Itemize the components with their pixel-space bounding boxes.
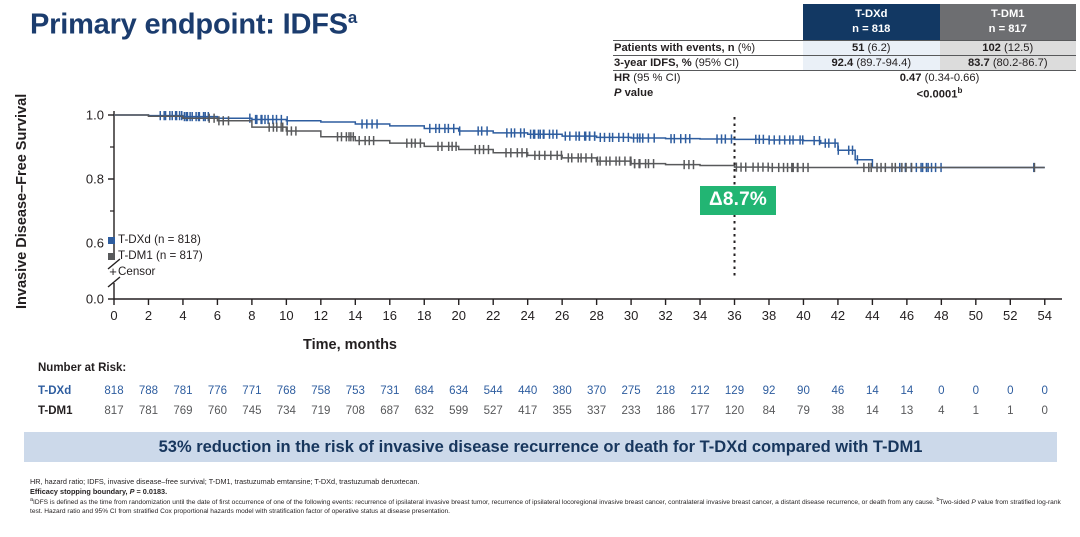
x-tick-label-14: 14 xyxy=(348,308,362,323)
risk-value-tdxd-32: 218 xyxy=(653,385,679,397)
y-tick-label-1.0: 1.0 xyxy=(86,108,104,123)
x-tick-label-12: 12 xyxy=(314,308,328,323)
x-tick-label-4: 4 xyxy=(179,308,186,323)
legend-item-censor: +Censor xyxy=(108,264,203,280)
risk-value-tdm1-38: 84 xyxy=(756,405,782,417)
x-tick-label-22: 22 xyxy=(486,308,500,323)
y-tick-label-0.0: 0.0 xyxy=(86,292,104,307)
risk-row-label-tdm1: T-DM1 xyxy=(38,405,73,417)
risk-value-tdxd-18: 684 xyxy=(411,385,437,397)
km-curve-tdm1 xyxy=(114,115,1045,167)
kaplan-meier-plot: 0.00.60.81.00246810121416182022242628303… xyxy=(0,0,1080,360)
delta-badge: Δ8.7% xyxy=(700,186,776,215)
legend-label-censor: Censor xyxy=(118,264,155,280)
x-tick-label-8: 8 xyxy=(248,308,255,323)
legend-item-tdxd: T-DXd (n = 818) xyxy=(108,232,203,248)
footnote-efficacy-label: Efficacy stopping boundary, xyxy=(30,487,130,496)
x-tick-label-2: 2 xyxy=(145,308,152,323)
conclusion-banner-text: 53% reduction in the risk of invasive di… xyxy=(159,438,923,457)
risk-value-tdxd-52: 0 xyxy=(997,385,1023,397)
risk-value-tdxd-14: 753 xyxy=(342,385,368,397)
x-tick-label-36: 36 xyxy=(727,308,741,323)
risk-value-tdm1-30: 233 xyxy=(618,405,644,417)
x-tick-label-44: 44 xyxy=(865,308,879,323)
risk-value-tdxd-26: 380 xyxy=(549,385,575,397)
x-tick-label-24: 24 xyxy=(520,308,534,323)
risk-value-tdm1-24: 417 xyxy=(515,405,541,417)
risk-value-tdm1-46: 13 xyxy=(894,405,920,417)
slide-root: Primary endpoint: IDFSa T-DXd n = 818 T-… xyxy=(0,0,1080,537)
x-tick-label-26: 26 xyxy=(555,308,569,323)
risk-value-tdxd-12: 758 xyxy=(308,385,334,397)
risk-value-tdm1-54: 0 xyxy=(1032,405,1058,417)
risk-value-tdxd-2: 788 xyxy=(135,385,161,397)
risk-value-tdxd-24: 440 xyxy=(515,385,541,397)
risk-value-tdm1-28: 337 xyxy=(584,405,610,417)
risk-value-tdm1-50: 1 xyxy=(963,405,989,417)
risk-value-tdxd-0: 818 xyxy=(101,385,127,397)
risk-value-tdm1-20: 599 xyxy=(446,405,472,417)
risk-value-tdm1-44: 14 xyxy=(859,405,885,417)
footnote-efficacy: Efficacy stopping boundary, P = 0.0183. xyxy=(30,487,1065,497)
legend-swatch-tdm1 xyxy=(108,253,115,260)
risk-value-tdm1-32: 186 xyxy=(653,405,679,417)
chart-legend: T-DXd (n = 818) T-DM1 (n = 817) +Censor xyxy=(108,232,203,280)
x-tick-label-54: 54 xyxy=(1038,308,1052,323)
risk-value-tdxd-28: 370 xyxy=(584,385,610,397)
x-tick-label-52: 52 xyxy=(1003,308,1017,323)
risk-value-tdm1-8: 745 xyxy=(239,405,265,417)
footnote-definitions: aIDFS is defined as the time from random… xyxy=(30,496,1065,516)
x-tick-label-42: 42 xyxy=(831,308,845,323)
risk-value-tdxd-42: 46 xyxy=(825,385,851,397)
footnote-efficacy-value: = 0.0183. xyxy=(134,487,167,496)
y-tick-label-0.8: 0.8 xyxy=(86,172,104,187)
x-tick-label-32: 32 xyxy=(658,308,672,323)
risk-value-tdxd-44: 14 xyxy=(859,385,885,397)
legend-swatch-tdxd xyxy=(108,237,115,244)
risk-value-tdm1-2: 781 xyxy=(135,405,161,417)
risk-value-tdm1-0: 817 xyxy=(101,405,127,417)
footnote-text-a: IDFS is defined as the time from randomi… xyxy=(33,499,936,506)
risk-value-tdxd-46: 14 xyxy=(894,385,920,397)
risk-value-tdm1-48: 4 xyxy=(928,405,954,417)
x-tick-label-20: 20 xyxy=(451,308,465,323)
x-tick-label-10: 10 xyxy=(279,308,293,323)
risk-value-tdm1-6: 760 xyxy=(204,405,230,417)
risk-value-tdxd-34: 212 xyxy=(687,385,713,397)
risk-row-label-tdxd: T-DXd xyxy=(38,385,71,397)
x-tick-label-40: 40 xyxy=(796,308,810,323)
risk-value-tdm1-4: 769 xyxy=(170,405,196,417)
risk-value-tdxd-10: 768 xyxy=(273,385,299,397)
x-tick-label-48: 48 xyxy=(934,308,948,323)
risk-value-tdm1-52: 1 xyxy=(997,405,1023,417)
conclusion-banner: 53% reduction in the risk of invasive di… xyxy=(24,432,1057,462)
x-tick-label-0: 0 xyxy=(110,308,117,323)
risk-value-tdxd-48: 0 xyxy=(928,385,954,397)
legend-item-tdm1: T-DM1 (n = 817) xyxy=(108,248,203,264)
risk-value-tdxd-4: 781 xyxy=(170,385,196,397)
risk-value-tdm1-22: 527 xyxy=(480,405,506,417)
x-tick-label-6: 6 xyxy=(214,308,221,323)
risk-value-tdm1-40: 79 xyxy=(790,405,816,417)
risk-value-tdxd-54: 0 xyxy=(1032,385,1058,397)
legend-label-tdm1: T-DM1 (n = 817) xyxy=(118,248,203,264)
number-at-risk-title: Number at Risk: xyxy=(38,362,126,374)
risk-value-tdm1-42: 38 xyxy=(825,405,851,417)
risk-value-tdxd-20: 634 xyxy=(446,385,472,397)
risk-value-tdxd-22: 544 xyxy=(480,385,506,397)
risk-value-tdm1-10: 734 xyxy=(273,405,299,417)
y-tick-label-0.6: 0.6 xyxy=(86,236,104,251)
risk-value-tdm1-26: 355 xyxy=(549,405,575,417)
risk-value-tdxd-30: 275 xyxy=(618,385,644,397)
risk-value-tdm1-14: 708 xyxy=(342,405,368,417)
x-tick-label-34: 34 xyxy=(693,308,707,323)
km-curve-tdxd xyxy=(114,115,1045,167)
risk-value-tdxd-38: 92 xyxy=(756,385,782,397)
risk-value-tdxd-50: 0 xyxy=(963,385,989,397)
risk-value-tdxd-40: 90 xyxy=(790,385,816,397)
footnote-abbreviations: HR, hazard ratio; IDFS, invasive disease… xyxy=(30,477,1065,487)
footnotes: HR, hazard ratio; IDFS, invasive disease… xyxy=(30,477,1065,517)
risk-value-tdm1-36: 120 xyxy=(722,405,748,417)
risk-value-tdm1-34: 177 xyxy=(687,405,713,417)
risk-value-tdm1-12: 719 xyxy=(308,405,334,417)
plus-icon: + xyxy=(108,264,118,280)
risk-value-tdm1-16: 687 xyxy=(377,405,403,417)
x-tick-label-28: 28 xyxy=(589,308,603,323)
footnote-text-b1: Two-sided xyxy=(939,499,971,506)
x-tick-label-16: 16 xyxy=(383,308,397,323)
risk-value-tdm1-18: 632 xyxy=(411,405,437,417)
legend-label-tdxd: T-DXd (n = 818) xyxy=(118,232,201,248)
x-tick-label-30: 30 xyxy=(624,308,638,323)
x-axis-title: Time, months xyxy=(0,337,700,353)
risk-value-tdxd-6: 776 xyxy=(204,385,230,397)
risk-value-tdxd-16: 731 xyxy=(377,385,403,397)
x-tick-label-38: 38 xyxy=(762,308,776,323)
x-tick-label-46: 46 xyxy=(900,308,914,323)
risk-value-tdxd-8: 771 xyxy=(239,385,265,397)
x-tick-label-50: 50 xyxy=(969,308,983,323)
x-tick-label-18: 18 xyxy=(417,308,431,323)
risk-value-tdxd-36: 129 xyxy=(722,385,748,397)
